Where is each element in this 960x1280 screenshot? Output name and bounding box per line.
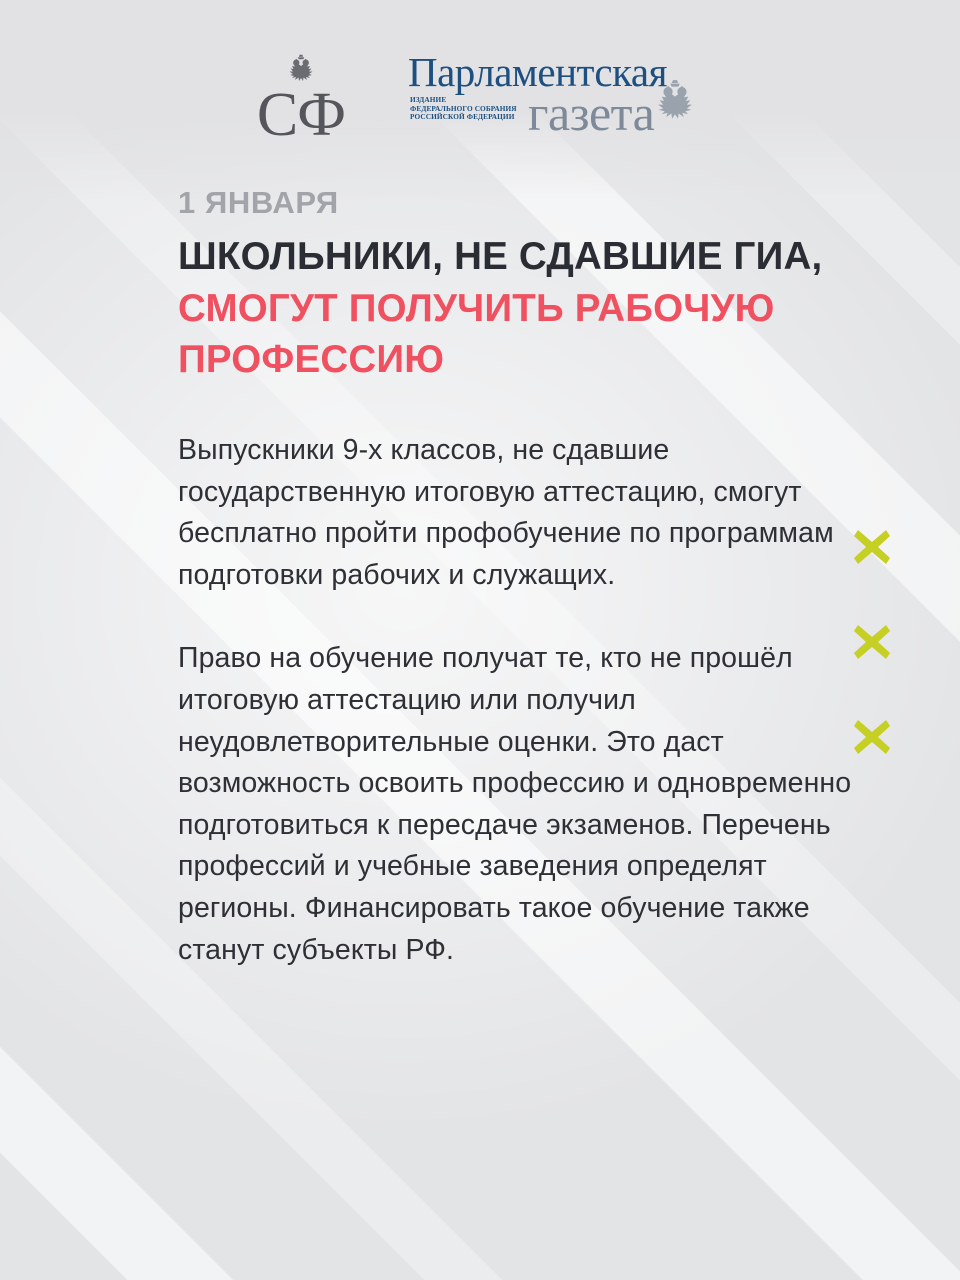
pg-subtitle-line-3: РОССИЙСКОЙ ФЕДЕРАЦИИ	[410, 112, 514, 121]
double-headed-eagle-icon	[650, 78, 700, 129]
header-logos: СФ Парламентская ИЗДАНИЕ ФЕДЕРАЛЬНОГО СО…	[0, 42, 960, 146]
pg-logo-subtitle: ИЗДАНИЕ ФЕДЕРАЛЬНОГО СОБРАНИЯ РОССИЙСКОЙ…	[410, 96, 528, 122]
headline-line-accent: СМОГУТ ПОЛУЧИТЬ РАБОЧУЮ ПРОФЕССИЮ	[178, 287, 775, 381]
x-mark-icon	[852, 528, 892, 571]
headline-block: 1 ЯНВАРЯ ШКОЛЬНИКИ, НЕ СДАВШИЕ ГИА, СМОГ…	[178, 186, 918, 385]
page-title: ШКОЛЬНИКИ, НЕ СДАВШИЕ ГИА, СМОГУТ ПОЛУЧИ…	[178, 231, 918, 385]
pg-logo-word-secondary: газета	[528, 88, 654, 138]
article-paragraph: Право на обучение получат те, кто не про…	[178, 638, 878, 971]
parlamentskaya-gazeta-logo: Парламентская ИЗДАНИЕ ФЕДЕРАЛЬНОГО СОБРА…	[408, 46, 718, 146]
x-mark-icon	[852, 623, 892, 666]
article-body: Выпускники 9-х классов, не сдавшие госуд…	[178, 430, 878, 971]
headline-line-dark: ШКОЛЬНИКИ, НЕ СДАВШИЕ ГИА,	[178, 235, 822, 278]
x-mark-icon	[852, 718, 892, 761]
decorative-x-marks	[852, 528, 892, 761]
article-paragraph: Выпускники 9-х классов, не сдавшие госуд…	[178, 430, 878, 596]
sf-logo-letters: СФ	[257, 85, 345, 146]
article-kicker-date: 1 ЯНВАРЯ	[178, 186, 918, 219]
poster-canvas: СФ Парламентская ИЗДАНИЕ ФЕДЕРАЛЬНОГО СО…	[0, 0, 960, 1280]
sf-logo: СФ	[242, 46, 360, 146]
